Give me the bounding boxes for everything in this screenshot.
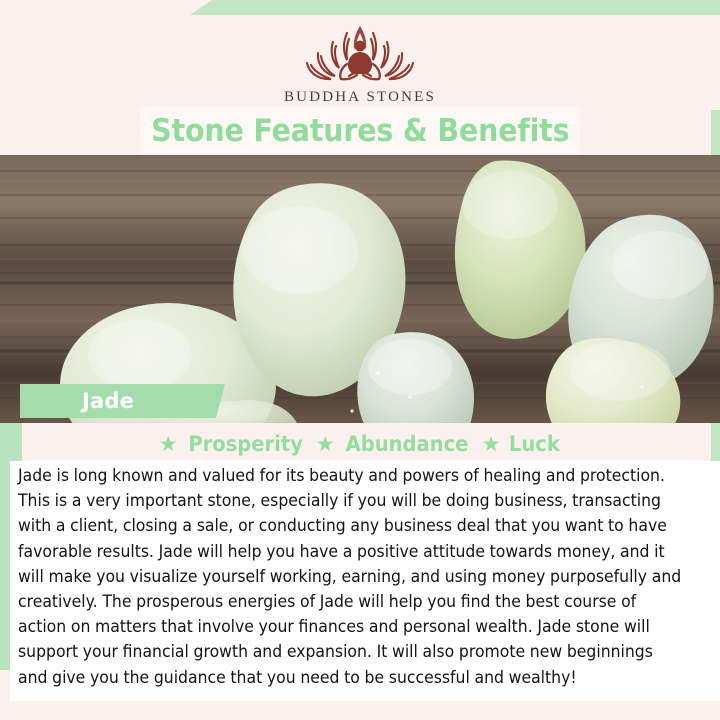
top-green-band-decoration — [0, 0, 720, 15]
benefits-row: ★ Prosperity ★ Abundance ★ Luck — [0, 428, 720, 460]
benefit-item: ★ Luck — [482, 432, 562, 456]
benefit-item: ★ Abundance — [316, 432, 473, 456]
star-icon: ★ — [316, 434, 335, 455]
star-icon: ★ — [159, 434, 178, 455]
stone-label-banner: Jade — [20, 384, 225, 418]
description-card: Jade is long known and valued for its be… — [10, 461, 720, 701]
benefit-label: Prosperity — [188, 432, 303, 456]
title-banner: Stone Features & Benefits — [140, 107, 580, 154]
lotus-meditation-icon — [285, 20, 435, 86]
stone-label: Jade — [82, 389, 134, 413]
bottom-background-fill — [0, 700, 720, 720]
benefit-item: ★ Prosperity — [159, 432, 307, 456]
star-icon: ★ — [482, 434, 501, 455]
brand-name: BUDDHA STONES — [284, 89, 436, 106]
description-text: Jade is long known and valued for its be… — [18, 463, 683, 690]
jade-stones-photo — [0, 155, 720, 423]
logo: BUDDHA STONES — [284, 20, 436, 106]
infographic-page: BUDDHA STONES Stone Features & Benefits — [0, 0, 720, 720]
page-title: Stone Features & Benefits — [151, 113, 569, 149]
brand-header: BUDDHA STONES — [0, 15, 720, 110]
benefit-label: Abundance — [345, 432, 468, 456]
benefit-label: Luck — [508, 432, 559, 456]
